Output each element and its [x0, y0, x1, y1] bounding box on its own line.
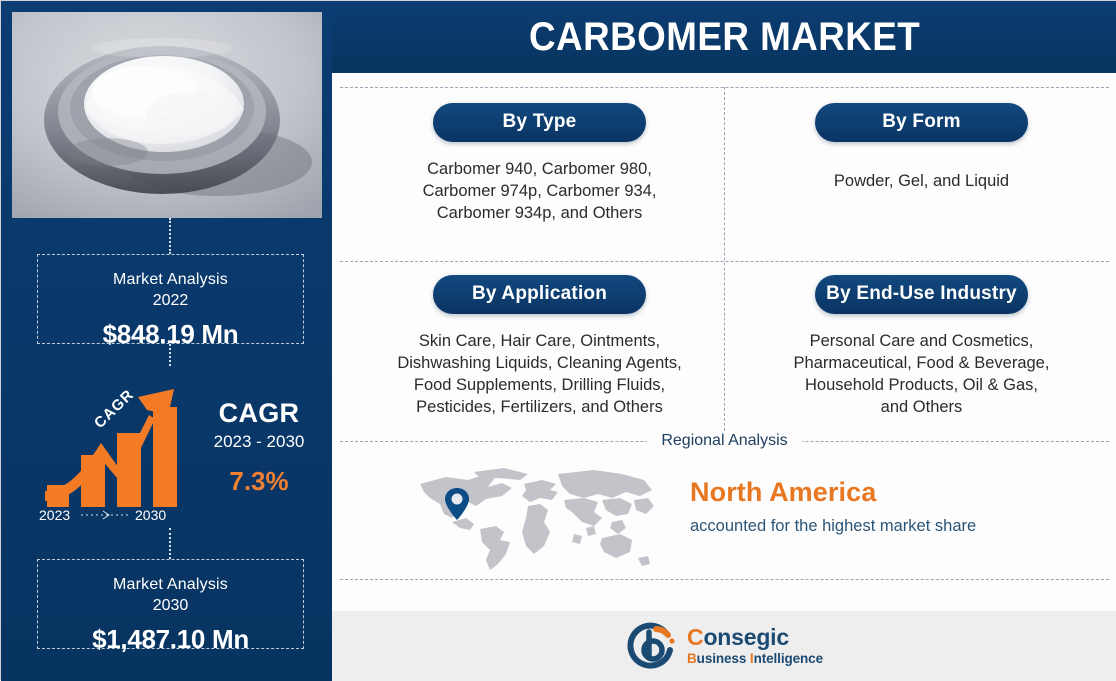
cagr-period: 2023 - 2030	[189, 430, 329, 454]
regional-analysis-label: Regional Analysis	[647, 432, 801, 449]
page-title: CARBOMER MARKET	[529, 15, 920, 60]
segment-line: Powder, Gel, and Liquid	[744, 170, 1099, 192]
segment-by-type: By Type Carbomer 940, Carbomer 980, Carb…	[362, 103, 717, 224]
segment-line: Household Products, Oil & Gas,	[744, 374, 1099, 396]
segment-line: Carbomer 940, Carbomer 980,	[362, 158, 717, 180]
leading-region-description: accounted for the highest market share	[690, 515, 1020, 537]
segment-by-form-heading: By Form	[815, 103, 1028, 142]
brand-initial: C	[687, 624, 703, 650]
segment-line: Dishwashing Liquids, Cleaning Agents,	[362, 352, 717, 374]
segment-by-form-text: Powder, Gel, and Liquid	[744, 170, 1099, 192]
market-analysis-2030-box: Market Analysis 2030 $1,487.10 Mn	[37, 559, 304, 649]
connector-cagr-to-2030	[169, 528, 171, 559]
segments-panel: By Type Carbomer 940, Carbomer 980, Carb…	[332, 73, 1116, 681]
world-map	[416, 466, 656, 576]
brand-name: Consegic	[687, 626, 823, 649]
market-2030-value: $1,487.10 Mn	[38, 623, 303, 655]
powder-bowl-image	[12, 12, 322, 218]
market-2030-title: Market Analysis	[38, 574, 303, 595]
market-analysis-2022-box: Market Analysis 2022 $848.19 Mn	[37, 254, 304, 344]
regional-text-group: North America accounted for the highest …	[690, 476, 1020, 537]
brand-rest: onsegic	[703, 624, 789, 650]
world-map-svg	[416, 466, 656, 576]
cagr-block: CAGR 2023 2030 CAGR 2023 - 2030 7.3%	[21, 361, 321, 526]
cagr-curve-label: CAGR	[91, 386, 137, 432]
segment-by-end-use-industry: By End-Use Industry Personal Care and Co…	[744, 275, 1099, 418]
segment-by-end-use-heading: By End-Use Industry	[815, 275, 1028, 314]
segment-by-type-heading: By Type	[433, 103, 646, 142]
leading-region-name: North America	[690, 476, 1020, 508]
segment-by-application-heading: By Application	[433, 275, 646, 314]
consegic-logo[interactable]: Consegic Business Intelligence	[626, 620, 823, 672]
cagr-start-year: 2023	[39, 507, 70, 522]
regional-analysis-label-wrap: Regional Analysis	[332, 441, 1116, 459]
segment-by-type-text: Carbomer 940, Carbomer 980, Carbomer 974…	[362, 158, 717, 224]
header-bar: CARBOMER MARKET	[332, 1, 1116, 73]
regional-divider-bottom	[340, 579, 1109, 580]
segment-line: Food Supplements, Drilling Fluids,	[362, 374, 717, 396]
cagr-end-year: 2030	[135, 507, 166, 522]
segment-line: Pharmaceutical, Food & Beverage,	[744, 352, 1099, 374]
consegic-logo-icon	[626, 620, 678, 672]
market-2022-title: Market Analysis	[38, 269, 303, 290]
segment-line: Personal Care and Cosmetics,	[744, 330, 1099, 352]
cagr-bars-and-arrow: CAGR 2023 2030	[37, 367, 185, 522]
segment-line: Skin Care, Hair Care, Ointments,	[362, 330, 717, 352]
segment-by-application-text: Skin Care, Hair Care, Ointments, Dishwas…	[362, 330, 717, 418]
cagr-value: 7.3%	[189, 465, 329, 497]
segment-line: Carbomer 934p, and Others	[362, 202, 717, 224]
tagline-b: B	[687, 651, 697, 666]
cagr-text-group: CAGR 2023 - 2030 7.3%	[189, 397, 329, 497]
tagline-ntelligence: ntelligence	[754, 651, 823, 666]
market-2022-year: 2022	[38, 290, 303, 311]
divider-vertical	[724, 87, 725, 441]
footer-bar: Consegic Business Intelligence	[332, 611, 1116, 681]
consegic-logo-text: Consegic Business Intelligence	[687, 626, 823, 666]
segment-by-form: By Form Powder, Gel, and Liquid	[744, 103, 1099, 192]
segment-line: Pesticides, Fertilizers, and Others	[362, 396, 717, 418]
segment-line: Carbomer 974p, Carbomer 934,	[362, 180, 717, 202]
segment-by-application: By Application Skin Care, Hair Care, Oin…	[362, 275, 717, 418]
cagr-label: CAGR	[189, 397, 329, 429]
segment-line: and Others	[744, 396, 1099, 418]
segment-by-end-use-text: Personal Care and Cosmetics, Pharmaceuti…	[744, 330, 1099, 418]
product-photo	[12, 12, 322, 218]
tagline-usiness: usiness	[697, 651, 750, 666]
cagr-growth-chart-icon: CAGR 2023 2030	[37, 367, 185, 522]
market-2030-year: 2030	[38, 595, 303, 616]
connector-photo-to-2022	[169, 218, 171, 254]
brand-tagline: Business Intelligence	[687, 652, 823, 666]
infographic-page: Market Analysis 2022 $848.19 Mn CAGR 202…	[0, 0, 1116, 680]
left-sidebar: Market Analysis 2022 $848.19 Mn CAGR 202…	[1, 1, 332, 681]
